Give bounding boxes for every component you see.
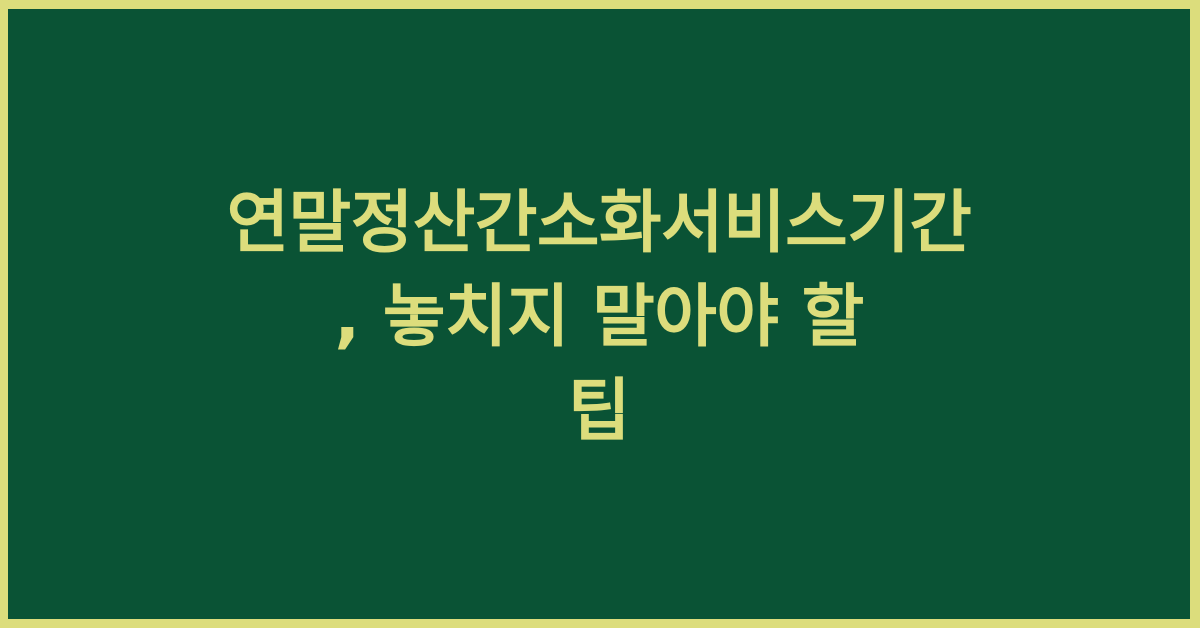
title-block: 연말정산간소화서비스기간 , 놓치지 말아야 할 팁 [8, 177, 1190, 459]
title-card: 연말정산간소화서비스기간 , 놓치지 말아야 할 팁 [0, 0, 1200, 628]
title-line-3: 팁 [8, 365, 1190, 459]
title-line-1: 연말정산간소화서비스기간 [8, 177, 1190, 271]
title-line-2: , 놓치지 말아야 할 [8, 271, 1190, 365]
